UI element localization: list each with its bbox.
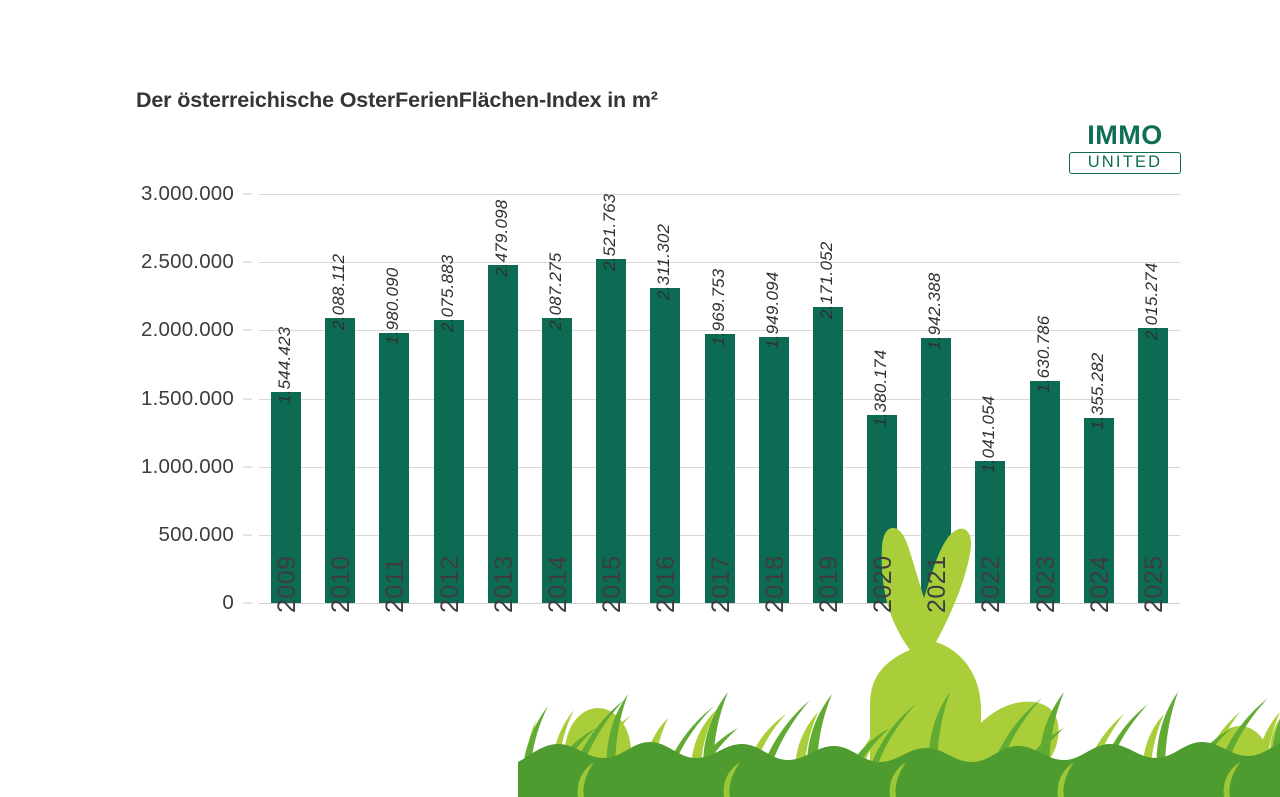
x-axis-label: 2017	[707, 555, 736, 613]
bar-value-label: 2.521.763	[600, 194, 620, 271]
y-axis-tick	[243, 330, 252, 331]
y-axis-tick	[243, 603, 252, 604]
bar-value-label: 1.969.753	[709, 269, 729, 346]
bar-value-label: 1.380.174	[871, 349, 891, 426]
y-axis: 0500.0001.000.0001.500.0002.000.0002.500…	[0, 194, 252, 603]
x-axis-label: 2013	[490, 555, 519, 613]
y-axis-label: 0	[222, 591, 234, 615]
bar-value-label: 1.980.090	[383, 268, 403, 345]
x-axis-label: 2022	[977, 555, 1006, 613]
x-axis-label: 2020	[869, 555, 898, 613]
x-axis-label: 2011	[381, 557, 410, 613]
page-title: Der österreichische OsterFerienFlächen-I…	[136, 88, 658, 113]
plot-area: 1.544.4232.088.1121.980.0902.075.8832.47…	[259, 194, 1180, 603]
bar-value-label: 2.087.275	[546, 253, 566, 330]
bar-value-label: 2.075.883	[438, 255, 458, 332]
bar-value-label: 1.630.786	[1034, 315, 1054, 392]
gridline	[259, 194, 1180, 195]
x-axis-label: 2025	[1140, 555, 1169, 613]
x-axis-label: 2023	[1032, 555, 1061, 613]
immo-united-logo: IMMO UNITED	[1069, 122, 1181, 174]
y-axis-tick	[243, 262, 252, 263]
grass-mid-layer	[522, 692, 1280, 797]
x-axis-label: 2024	[1086, 555, 1115, 613]
bar-value-label: 2.015.274	[1142, 263, 1162, 340]
x-axis-label: 2009	[273, 555, 302, 613]
bar-value-label: 1.942.388	[925, 273, 945, 350]
x-axis-label: 2018	[761, 555, 790, 613]
y-axis-label: 500.000	[158, 523, 234, 547]
bar	[488, 265, 518, 603]
bar-value-label: 1.544.423	[275, 327, 295, 404]
y-axis-label: 1.500.000	[141, 387, 234, 411]
y-axis-label: 2.500.000	[141, 250, 234, 274]
x-axis-label: 2019	[815, 555, 844, 613]
x-axis-label: 2021	[923, 555, 952, 613]
y-axis-tick	[243, 534, 252, 535]
bar-value-label: 2.088.112	[329, 254, 349, 330]
bar	[596, 259, 626, 603]
easter-eggs	[565, 699, 1280, 797]
logo-wordmark-immo: IMMO	[1069, 122, 1181, 149]
bar-value-label: 1.949.094	[763, 272, 783, 349]
bar-value-label: 1.355.282	[1088, 353, 1108, 430]
bar-value-label: 2.479.098	[492, 200, 512, 277]
gridline	[259, 262, 1180, 263]
x-axis-label: 2012	[436, 555, 465, 613]
bar-value-label: 2.311.302	[654, 224, 674, 300]
x-axis-label: 2014	[544, 555, 573, 613]
grass-base	[518, 740, 1280, 797]
y-axis-tick	[243, 466, 252, 467]
y-axis-label: 1.000.000	[141, 455, 234, 479]
chart-canvas: Der österreichische OsterFerienFlächen-I…	[0, 0, 1280, 792]
x-axis-label: 2015	[598, 555, 627, 613]
x-axis-label: 2010	[327, 555, 356, 613]
x-axis-label: 2016	[652, 555, 681, 613]
logo-wordmark-united: UNITED	[1069, 152, 1181, 174]
bar-value-label: 1.041.054	[979, 396, 999, 473]
grass-back-layer	[526, 710, 1280, 797]
y-axis-label: 3.000.000	[141, 182, 234, 206]
y-axis-tick	[243, 398, 252, 399]
y-axis-tick	[243, 194, 252, 195]
bar-value-label: 2.171.052	[817, 242, 837, 319]
y-axis-label: 2.000.000	[141, 318, 234, 342]
